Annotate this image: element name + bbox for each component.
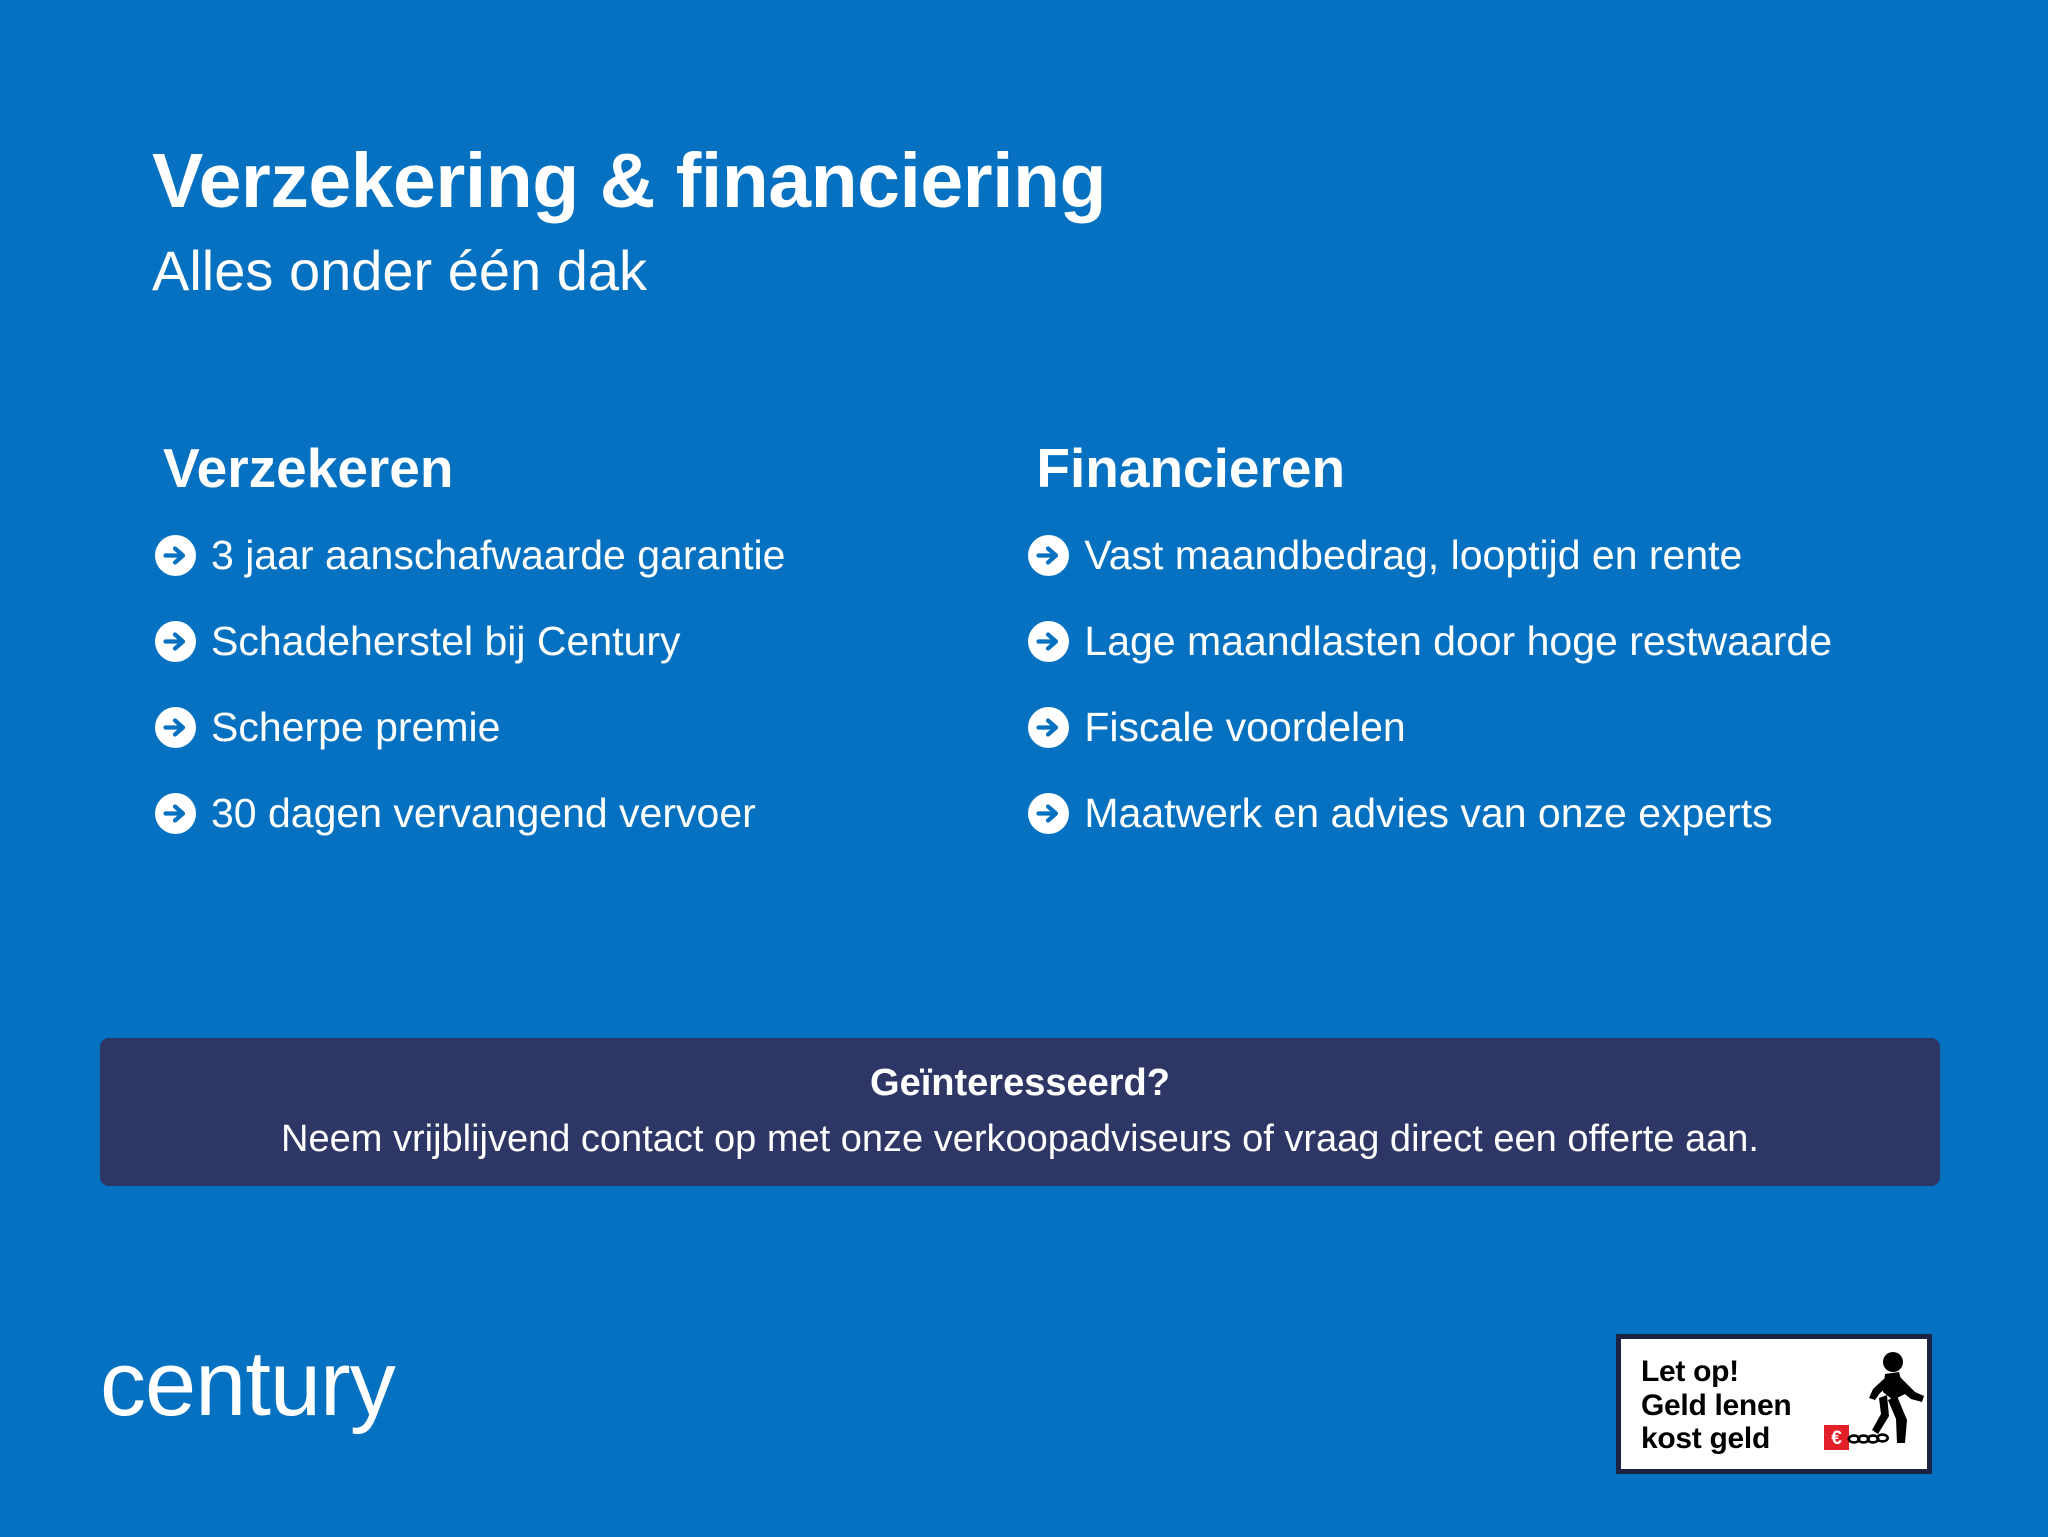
list-item-label: 30 dagen vervangend vervoer xyxy=(211,790,756,837)
slide-canvas: Verzekering & financiering Alles onder é… xyxy=(0,0,2048,1537)
header: Verzekering & financiering Alles onder é… xyxy=(152,140,1852,304)
list-item-label: Scherpe premie xyxy=(211,704,500,751)
arrow-right-circle-icon xyxy=(155,707,196,748)
afm-warning-line-3: kost geld xyxy=(1641,1422,1823,1456)
column-verzekeren: Verzekeren 3 jaar aanschafwaarde garanti… xyxy=(100,440,1028,837)
century-logo: century xyxy=(100,1338,395,1430)
list-item-label: 3 jaar aanschafwaarde garantie xyxy=(211,532,785,579)
svg-text:€: € xyxy=(1831,1428,1842,1449)
arrow-right-circle-icon xyxy=(155,535,196,576)
cta-heading: Geïnteresseerd? xyxy=(870,1061,1170,1107)
bullet-list-financieren: Vast maandbedrag, looptijd en rente Lage… xyxy=(1028,532,1960,838)
list-item-label: Vast maandbedrag, looptijd en rente xyxy=(1084,532,1742,579)
afm-warning-text: Let op! Geld lenen kost geld xyxy=(1621,1339,1823,1469)
list-item: 3 jaar aanschafwaarde garantie xyxy=(155,532,1028,579)
list-item-label: Lage maandlasten door hoge restwaarde xyxy=(1084,618,1832,665)
page-subtitle: Alles onder één dak xyxy=(152,237,1852,304)
list-item: 30 dagen vervangend vervoer xyxy=(155,790,1028,837)
afm-warning-line-1: Let op! xyxy=(1641,1355,1823,1389)
column-heading-verzekeren: Verzekeren xyxy=(155,440,1028,498)
walking-person-chained-euro-icon: € xyxy=(1823,1348,1927,1465)
arrow-right-circle-icon xyxy=(1028,707,1069,748)
column-financieren: Financieren Vast maandbedrag, looptijd e… xyxy=(1028,440,1960,837)
list-item: Schadeherstel bij Century xyxy=(155,618,1028,665)
list-item: Vast maandbedrag, looptijd en rente xyxy=(1028,532,1960,579)
bullet-list-verzekeren: 3 jaar aanschafwaarde garantie Schadeher… xyxy=(155,532,1028,838)
afm-warning-box: Let op! Geld lenen kost geld € xyxy=(1616,1334,1932,1474)
list-item: Maatwerk en advies van onze experts xyxy=(1028,790,1960,837)
list-item-label: Schadeherstel bij Century xyxy=(211,618,680,665)
column-heading-financieren: Financieren xyxy=(1028,440,1960,498)
afm-warning-line-2: Geld lenen xyxy=(1641,1389,1823,1423)
list-item: Fiscale voordelen xyxy=(1028,704,1960,751)
feature-columns: Verzekeren 3 jaar aanschafwaarde garanti… xyxy=(100,440,1960,837)
list-item: Scherpe premie xyxy=(155,704,1028,751)
arrow-right-circle-icon xyxy=(1028,793,1069,834)
arrow-right-circle-icon xyxy=(1028,535,1069,576)
arrow-right-circle-icon xyxy=(1028,621,1069,662)
list-item: Lage maandlasten door hoge restwaarde xyxy=(1028,618,1960,665)
list-item-label: Fiscale voordelen xyxy=(1084,704,1405,751)
list-item-label: Maatwerk en advies van onze experts xyxy=(1084,790,1772,837)
arrow-right-circle-icon xyxy=(155,621,196,662)
cta-body-text: Neem vrijblijvend contact op met onze ve… xyxy=(281,1117,1759,1163)
arrow-right-circle-icon xyxy=(155,793,196,834)
page-title: Verzekering & financiering xyxy=(152,140,1852,223)
cta-banner[interactable]: Geïnteresseerd? Neem vrijblijvend contac… xyxy=(100,1038,1940,1186)
